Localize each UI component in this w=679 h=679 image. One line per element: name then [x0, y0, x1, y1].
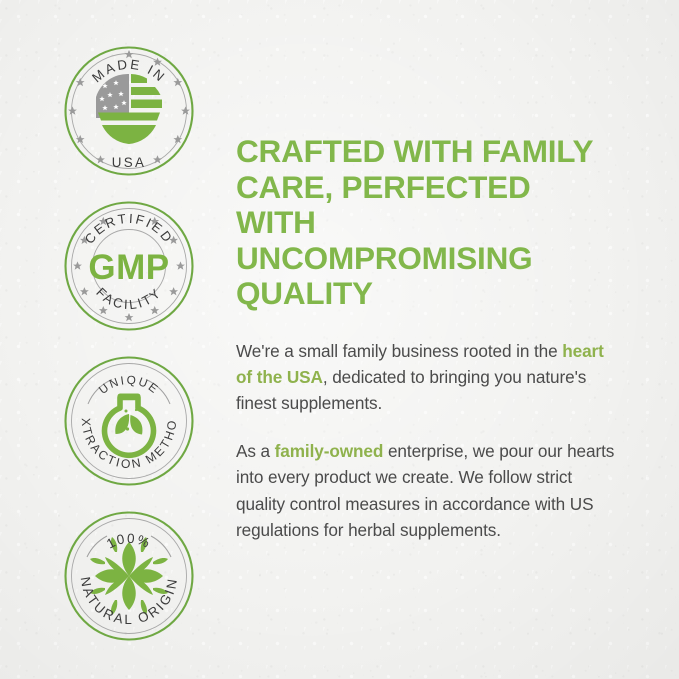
marketing-copy-block: CRAFTED WITH FAMILY CARE, PERFECTED WITH… [236, 134, 618, 543]
badge-unique-extraction-method: UNIQUE EXTRACTION METHOD [60, 352, 198, 490]
product-info-panel: MADE IN USA [0, 0, 679, 679]
badge-gmp-certified-facility: GMP CERTIFIED FACILITY [60, 197, 198, 335]
badge-top-text: UNIQUE [96, 373, 162, 397]
flask-leaf-icon [105, 394, 154, 456]
paragraph-2-accent: family-owned [275, 441, 384, 461]
badge-top-text: CERTIFIED [82, 211, 177, 247]
paragraph-2-part-1: As a [236, 441, 275, 461]
badge-made-in-usa: MADE IN USA [60, 42, 198, 180]
badge-100-natural-origin: 100% NATURAL ORIGIN [60, 507, 198, 645]
paragraph-1-part-1: We're a small family business rooted in … [236, 341, 562, 361]
badge-bottom-text: USA [112, 155, 146, 170]
page-title: CRAFTED WITH FAMILY CARE, PERFECTED WITH… [236, 134, 618, 312]
trust-badge-column: MADE IN USA [60, 42, 208, 662]
gmp-text-icon: GMP [88, 248, 169, 287]
usa-flag-shield-icon [96, 74, 162, 144]
paragraph-about-quality-control: As a family-owned enterprise, we pour ou… [236, 438, 618, 543]
paragraph-about-family-business: We're a small family business rooted in … [236, 338, 618, 417]
